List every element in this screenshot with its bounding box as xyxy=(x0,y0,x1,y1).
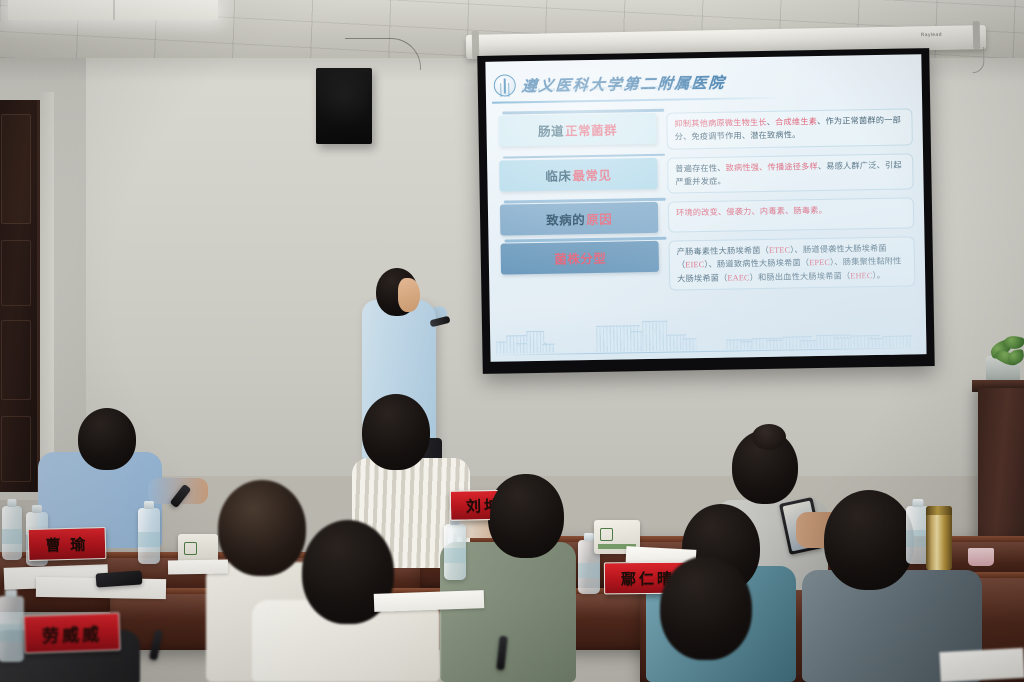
slide-description-2: 普遍存在性、致病性强、传播途径多样、易感人群广泛、引起严重并发症。 xyxy=(667,153,914,194)
slide-chip-3: 致病的原因 xyxy=(500,202,659,236)
audience-curly-hair-head xyxy=(218,480,306,576)
roller-bracket-left xyxy=(472,31,480,59)
thermos-cap xyxy=(926,506,952,515)
slide-text-segment: EHEC xyxy=(850,271,872,280)
skyline-building xyxy=(542,344,554,353)
skyline-building xyxy=(682,338,696,350)
slide-description-3: 环境的改变、侵袭力、内毒素、肠毒素。 xyxy=(668,197,915,232)
slide-text-segment: EAEC xyxy=(727,273,749,282)
tissue-box-logo-icon xyxy=(184,542,197,555)
water-bottle[interactable] xyxy=(2,506,22,560)
nameplate-lao-weiwei: 劳威威 xyxy=(23,612,120,653)
hospital-emblem-icon xyxy=(494,74,516,96)
slide-text-segment: 合成维生素 xyxy=(775,117,817,127)
chip-highlight-text: 原因 xyxy=(586,209,612,228)
presenter-face xyxy=(398,278,420,312)
slide-chip-2: 临床最常见 xyxy=(499,157,658,191)
slide-text-segment: 致病性强、传播途径多样 xyxy=(725,162,817,173)
slide-description-4: 产肠毒素性大肠埃希菌（ETEC）、肠道侵袭性大肠埃希菌（EIEC）、肠道致病性大… xyxy=(669,236,916,290)
slide-content-rows: 肠道正常菌群抑制其他病原微生物生长、合成维生素、作为正常菌群的一部分、免疫调节作… xyxy=(486,96,925,294)
slide-row: 菌株分型产肠毒素性大肠埃希菌（ETEC）、肠道侵袭性大肠埃希菌（EIEC）、肠道… xyxy=(501,236,916,293)
roller-brand-label: Raylead xyxy=(921,32,942,38)
slide-chip-1: 肠道正常菌群 xyxy=(498,113,657,147)
bottle-label xyxy=(2,529,22,544)
door-panel xyxy=(1,240,31,306)
tissue-box-logo-icon xyxy=(600,528,613,541)
water-bottle[interactable] xyxy=(0,596,24,662)
hospital-name-title: 遵义医科大学第二附属医院 xyxy=(521,71,727,96)
chip-highlight-text: 正常菌群 xyxy=(565,120,617,140)
lecture-hall-scene: Raylead 遵义医科大学第二附属医院 THE SECOND AFFILIAT… xyxy=(0,0,1024,682)
slide-text-segment: 环境的改变、侵袭力、内毒素、肠毒素。 xyxy=(676,206,827,218)
nameplate-cao-yu: 曹 瑜 xyxy=(28,527,107,561)
slide-surface: 遵义医科大学第二附属医院 THE SECOND AFFILIATED HOSPI… xyxy=(485,54,926,362)
slide-footer xyxy=(490,302,927,362)
audience-bun-hair-bun xyxy=(752,424,786,450)
pink-cup[interactable] xyxy=(968,548,994,566)
water-bottle[interactable] xyxy=(444,524,466,580)
bottle-label xyxy=(138,532,160,548)
slide-text-segment: 普遍存在性、 xyxy=(675,163,725,173)
chip-plain-text: 致病的 xyxy=(546,209,585,229)
slide-text-segment: 抑制其他病原微生物生长 xyxy=(674,118,766,129)
slide-description-1: 抑制其他病原微生物生长、合成维生素、作为正常菌群的一部分、免疫调节作用、潜在致病… xyxy=(666,108,913,149)
slide-text-segment: EPEC xyxy=(809,258,830,267)
bottle-label xyxy=(444,548,466,564)
chip-plain-text: 临床 xyxy=(545,165,571,184)
audience-blue-shirt-head xyxy=(78,408,136,470)
slide-row: 临床最常见普遍存在性、致病性强、传播途径多样、易感人群广泛、引起严重并发症。 xyxy=(499,153,914,197)
audience-striped-shirt-head xyxy=(362,394,430,470)
skyline-building xyxy=(642,321,669,351)
door-panel xyxy=(1,416,31,482)
slide-chip-wrap: 临床最常见 xyxy=(499,157,658,191)
slide-text-segment: ETEC xyxy=(769,246,790,255)
nameplate-text: 曹 瑜 xyxy=(45,533,88,555)
slide-chip-wrap: 肠道正常菌群 xyxy=(498,113,657,147)
slide-text-segment: ）。 xyxy=(872,271,885,280)
audience-floral-head-front xyxy=(490,474,564,558)
slide-text-segment: ）和肠出血性大肠埃希菌（ xyxy=(750,271,851,282)
door-frame xyxy=(38,92,54,496)
slide-chip-4: 菌株分型 xyxy=(501,241,660,275)
audience-olive-shirt-head xyxy=(824,490,914,590)
water-bottle[interactable] xyxy=(138,508,160,564)
roller-bracket-right xyxy=(973,21,981,49)
chip-highlight-text: 菌株分型 xyxy=(554,248,606,268)
slide-chip-wrap: 致病的原因 xyxy=(500,202,659,236)
nameplate-text: 劳威威 xyxy=(42,619,103,646)
audience-teal-shirt-head-front xyxy=(660,556,752,660)
wall-mounted-speaker xyxy=(316,68,372,144)
ceiling-light-fixture xyxy=(8,0,218,20)
bottle-label xyxy=(0,624,24,642)
wooden-door[interactable] xyxy=(0,100,40,492)
chip-highlight-text: 最常见 xyxy=(572,164,611,184)
slide-chip-wrap: 菌株分型 xyxy=(501,241,660,275)
door-panel-glass xyxy=(1,114,31,224)
slide-row: 致病的原因环境的改变、侵袭力、内毒素、肠毒素。 xyxy=(500,197,914,235)
bottle-label xyxy=(578,563,600,578)
slide-text-segment: ）、肠道致病性大肠埃希菌（ xyxy=(704,259,809,270)
chip-plain-text: 肠道 xyxy=(538,120,564,139)
slide-text-segment: 产肠毒素性大肠埃希菌（ xyxy=(677,246,769,257)
slide-row: 肠道正常菌群抑制其他病原微生物生长、合成维生素、作为正常菌群的一部分、免疫调节作… xyxy=(498,108,913,152)
door-panel xyxy=(1,320,31,400)
projection-screen[interactable]: 遵义医科大学第二附属医院 THE SECOND AFFILIATED HOSPI… xyxy=(477,48,934,374)
skyline-building xyxy=(882,335,912,347)
slide-text-segment: EIEC xyxy=(685,260,704,269)
document-paper xyxy=(939,648,1024,682)
slide-text-segment: 、 xyxy=(767,118,776,127)
gold-thermos[interactable] xyxy=(926,506,952,570)
document-paper xyxy=(374,590,485,612)
document-paper xyxy=(168,559,228,574)
